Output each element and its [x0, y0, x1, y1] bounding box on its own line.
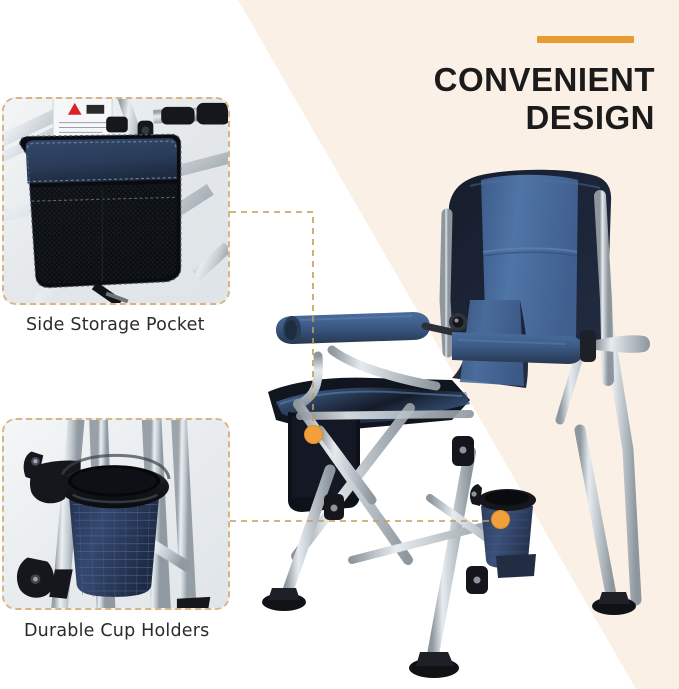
heading-block: CONVENIENT DESIGN	[395, 36, 655, 138]
callout-cup-caption: Durable Cup Holders	[24, 621, 209, 641]
connector-dot-pocket	[304, 425, 323, 444]
infographic-canvas: Side Storage Pocket	[0, 0, 679, 689]
callout-durable-cup-holders: Durable Cup Holders	[2, 418, 230, 610]
callout-pocket-frame	[2, 97, 230, 305]
heading-accent-rule	[537, 36, 634, 43]
callout-pocket-caption: Side Storage Pocket	[26, 315, 205, 335]
callout-cup-frame	[2, 418, 230, 610]
connector-dot-cup	[491, 510, 510, 529]
photo-durable-cup-holders	[4, 420, 228, 609]
callout-side-storage-pocket: Side Storage Pocket	[2, 97, 230, 305]
page-title: CONVENIENT DESIGN	[395, 61, 655, 138]
photo-side-storage-pocket	[4, 99, 228, 303]
